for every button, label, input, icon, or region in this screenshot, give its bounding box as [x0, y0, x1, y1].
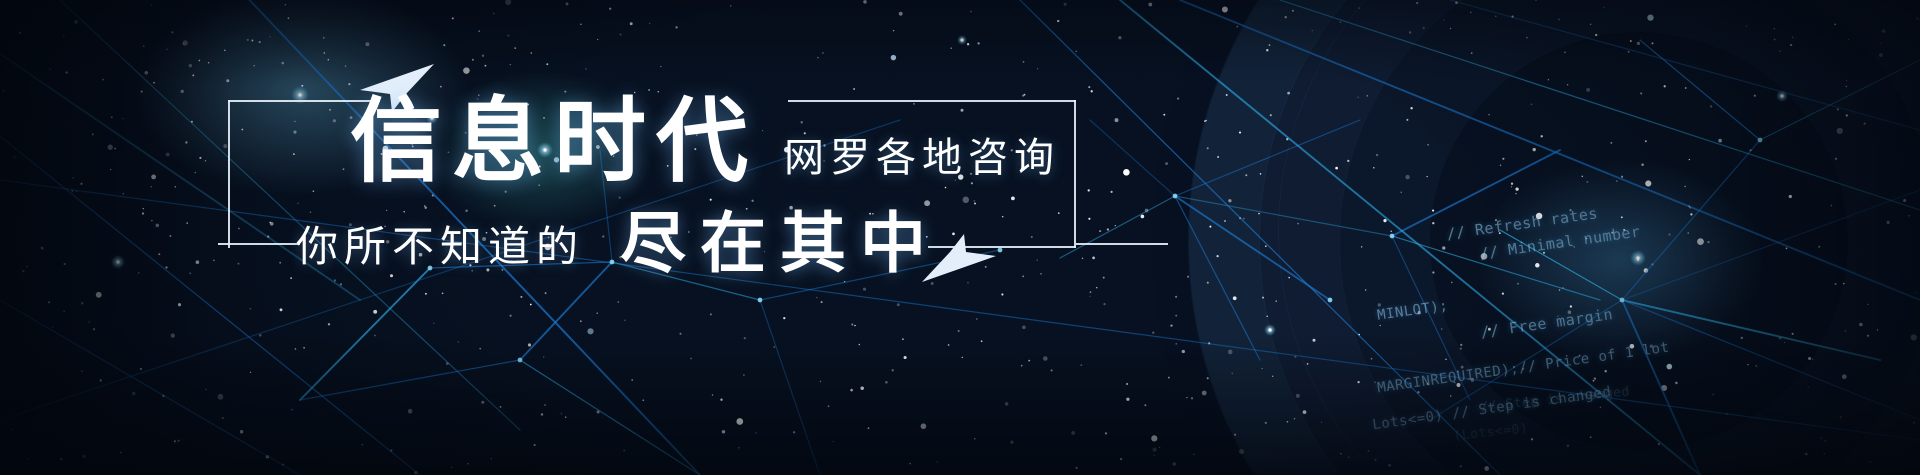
headline2-text: 尽在其中 [620, 210, 940, 276]
headline-row: 信息时代 网罗各地咨询 [350, 96, 1060, 188]
subhead-text: 网罗各地咨询 [784, 138, 1060, 178]
hero-banner: // Refresh rates // Minimal number MINLO… [0, 0, 1920, 475]
frame-underline-right [1076, 243, 1168, 245]
frame-left-line [228, 100, 230, 248]
frame-underline-left [218, 243, 300, 245]
frame-right-line [1074, 100, 1076, 248]
secondary-row: 你所不知道的 尽在其中 [296, 210, 940, 276]
subline-text: 你所不知道的 [296, 226, 584, 268]
headline-block: 信息时代 网罗各地咨询 你所不知道的 尽在其中 [228, 88, 1076, 248]
headline-text: 信息时代 [350, 96, 758, 188]
